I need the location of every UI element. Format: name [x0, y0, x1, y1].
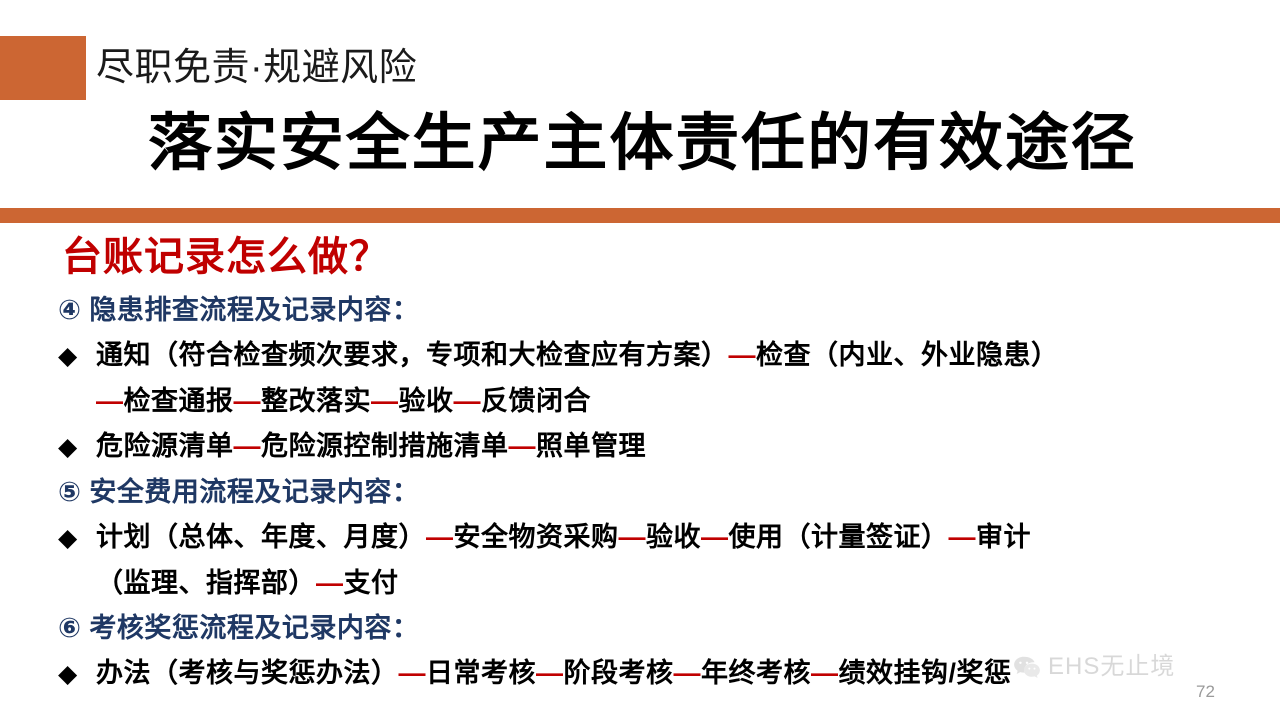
arrow-dash: —	[729, 340, 757, 370]
line-text: 支付	[344, 568, 399, 598]
bullet-continuation-line: —检查通报—整改落实—验收—反馈闭合	[58, 379, 1268, 424]
arrow-dash: —	[96, 386, 124, 416]
arrow-dash: —	[619, 522, 647, 552]
header-divider-rule	[0, 208, 1280, 223]
line-text: 照单管理	[536, 431, 646, 461]
bullet-continuation-line: （监理、指挥部）—支付	[58, 561, 1268, 606]
line-text: 使用（计量签证）	[729, 522, 949, 552]
slide-title: 落实安全生产主体责任的有效途径	[148, 104, 1137, 184]
diamond-bullet-icon: ◆	[58, 425, 96, 470]
line-text: 验收	[399, 386, 454, 416]
bullet-line: ◆办法（考核与奖惩办法）—日常考核—阶段考核—年终考核—绩效挂钩/奖惩	[58, 651, 1268, 697]
diamond-bullet-icon: ◆	[58, 652, 96, 697]
arrow-dash: —	[536, 658, 564, 688]
header-accent-block	[0, 36, 86, 100]
arrow-dash: —	[234, 431, 262, 461]
arrow-dash: —	[701, 522, 729, 552]
line-text: 年终考核	[701, 658, 811, 688]
line-text: 绩效挂钩/奖惩	[839, 658, 1012, 688]
line-text: 办法（考核与奖惩办法）	[96, 658, 399, 688]
arrow-dash: —	[949, 522, 977, 552]
line-text: 计划（总体、年度、月度）	[96, 522, 426, 552]
arrow-dash: —	[316, 568, 344, 598]
slide: 尽职免责·规避风险 落实安全生产主体责任的有效途径 台账记录怎么做？ ④ 隐患排…	[0, 0, 1280, 720]
page-number: 72	[1196, 682, 1215, 702]
diamond-bullet-icon: ◆	[58, 516, 96, 561]
arrow-dash: —	[509, 431, 537, 461]
diamond-bullet-icon: ◆	[58, 334, 96, 379]
line-text: 反馈闭合	[481, 386, 591, 416]
line-text: 危险源控制措施清单	[261, 431, 509, 461]
bullet-line: ◆通知（符合检查频次要求，专项和大检查应有方案）—检查（内业、外业隐患）	[58, 333, 1268, 379]
bullet-line: ◆计划（总体、年度、月度）—安全物资采购—验收—使用（计量签证）—审计	[58, 515, 1268, 561]
line-text: 检查（内业、外业隐患）	[756, 340, 1059, 370]
arrow-dash: —	[811, 658, 839, 688]
slide-kicker: 尽职免责·规避风险	[96, 40, 417, 96]
section-heading: ④ 隐患排查流程及记录内容：	[58, 288, 1268, 333]
line-text: 检查通报	[124, 386, 234, 416]
arrow-dash: —	[674, 658, 702, 688]
line-text: （监理、指挥部）	[96, 568, 316, 598]
arrow-dash: —	[234, 386, 262, 416]
line-text: 审计	[976, 522, 1031, 552]
bullet-line: ◆危险源清单—危险源控制措施清单—照单管理	[58, 424, 1268, 470]
line-text: 整改落实	[261, 386, 371, 416]
line-text: 阶段考核	[564, 658, 674, 688]
line-text: 危险源清单	[96, 431, 234, 461]
section-heading: ⑤ 安全费用流程及记录内容：	[58, 470, 1268, 515]
line-text: 通知（符合检查频次要求，专项和大检查应有方案）	[96, 340, 729, 370]
section-heading: ⑥ 考核奖惩流程及记录内容：	[58, 606, 1268, 651]
arrow-dash: —	[426, 522, 454, 552]
section-question-heading: 台账记录怎么做？	[62, 230, 390, 284]
line-text: 验收	[646, 522, 701, 552]
line-text: 安全物资采购	[454, 522, 619, 552]
content-body: ④ 隐患排查流程及记录内容：◆通知（符合检查频次要求，专项和大检查应有方案）—检…	[58, 288, 1268, 697]
line-text: 日常考核	[426, 658, 536, 688]
arrow-dash: —	[371, 386, 399, 416]
arrow-dash: —	[399, 658, 427, 688]
arrow-dash: —	[454, 386, 482, 416]
